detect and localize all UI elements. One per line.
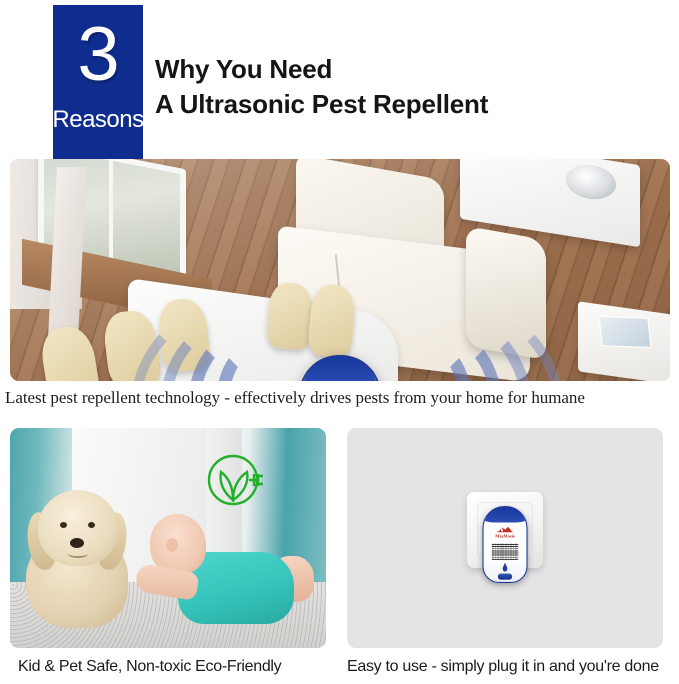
hero-image: MaxMoxie <box>10 159 670 381</box>
device-speaker-grille <box>492 543 518 560</box>
panel-caption-easy-to-use: Easy to use - simply plug it in and you'… <box>347 657 659 676</box>
device-logo: MaxMoxie <box>484 526 527 539</box>
panel-easy-to-use: MaxMoxie <box>347 428 663 648</box>
page-title: Why You Need A Ultrasonic Pest Repellent <box>155 52 655 122</box>
panel-kid-pet-safe <box>10 428 326 648</box>
magazine <box>599 316 652 348</box>
hero-caption: Latest pest repellent technology - effec… <box>5 388 679 408</box>
product-infographic: 3 Reasons Why You Need A Ultrasonic Pest… <box>0 0 679 684</box>
dog-eye <box>60 522 67 528</box>
page-title-line-1: Why You Need <box>155 52 655 87</box>
baby-ear <box>166 538 178 552</box>
baby-head <box>150 514 206 574</box>
device-brand-label: MaxMoxie <box>495 534 514 539</box>
reasons-badge: 3 Reasons <box>53 5 143 160</box>
dog-eye <box>88 522 95 528</box>
device-power-button <box>498 574 512 580</box>
device-top-cap <box>482 506 527 523</box>
pest-repellent-device: MaxMoxie <box>299 355 381 381</box>
dog-mouth <box>68 550 88 558</box>
dog-nose <box>70 538 84 548</box>
badge-number: 3 <box>77 17 118 93</box>
eco-leaf-plug-icon <box>205 450 267 512</box>
panel-caption-kid-pet-safe: Kid & Pet Safe, Non-toxic Eco-Friendly <box>18 657 281 676</box>
living-room-scene: MaxMoxie <box>10 159 670 381</box>
page-title-line-2: A Ultrasonic Pest Repellent <box>155 87 655 122</box>
house-roof-logo-icon <box>497 526 512 533</box>
header: 3 Reasons Why You Need A Ultrasonic Pest… <box>0 0 679 160</box>
device-indicator-drop <box>503 563 508 572</box>
pest-repellent-device-plugged: MaxMoxie <box>482 506 527 583</box>
badge-word: Reasons <box>52 108 143 132</box>
device-top-cap <box>299 355 381 381</box>
